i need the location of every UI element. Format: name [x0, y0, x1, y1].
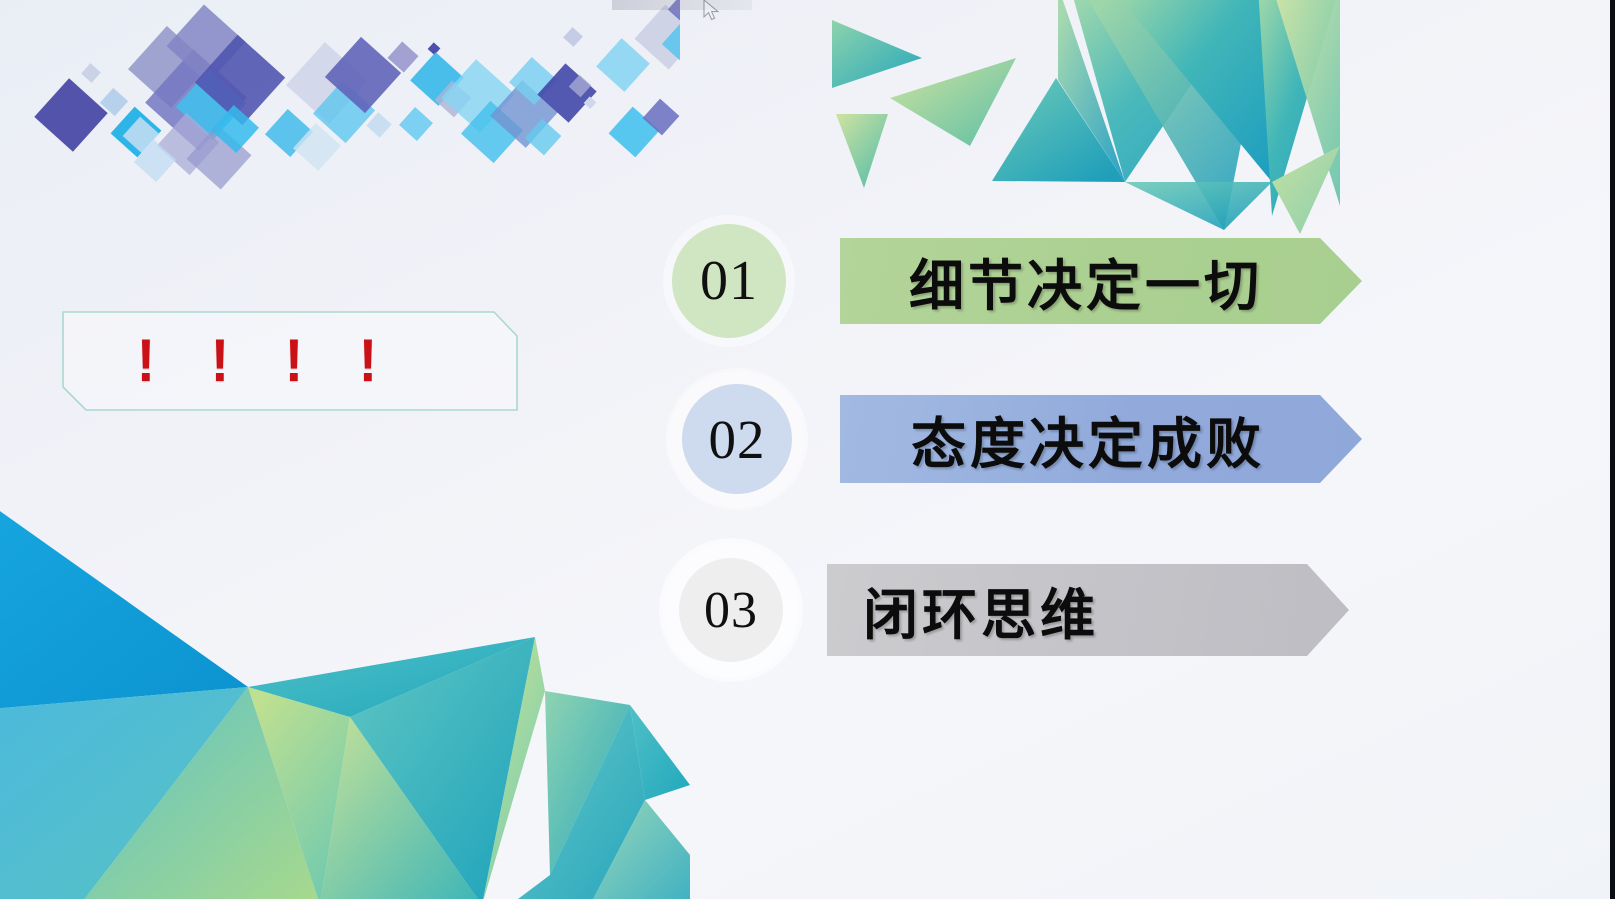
exclamation-mark-1: ! — [137, 331, 155, 391]
agenda-row-3[interactable]: 03 闭环思维 — [645, 558, 1349, 662]
blue-mosaic-squares — [0, 0, 680, 194]
agenda-banner-1[interactable]: 细节决定一切 — [840, 238, 1362, 324]
step-number-text: 02 — [709, 408, 766, 471]
step-number-badge-01: 01 — [672, 224, 786, 338]
step-number-badge-03: 03 — [679, 558, 783, 662]
origami-polygons — [0, 455, 690, 899]
exclamation-callout: ! ! ! ! — [62, 311, 518, 411]
exclamation-mark-group: ! ! ! ! — [62, 311, 518, 411]
agenda-banner-3[interactable]: 闭环思维 — [827, 564, 1349, 656]
step-number-text: 01 — [700, 249, 758, 313]
agenda-row-2[interactable]: 02 态度决定成败 — [650, 384, 1362, 494]
step-number-text: 03 — [704, 581, 758, 640]
exclamation-mark-4: ! — [359, 331, 377, 391]
teal-green-triangles — [780, 0, 1615, 246]
right-edge-strip — [1610, 0, 1615, 899]
step-number-badge-02: 02 — [682, 384, 792, 494]
agenda-banner-2[interactable]: 态度决定成败 — [840, 395, 1362, 483]
agenda-banner-label-2: 态度决定成败 — [911, 399, 1265, 479]
agenda-banner-label-3: 闭环思维 — [863, 570, 1099, 650]
agenda-banner-label-1: 细节决定一切 — [909, 241, 1263, 321]
exclamation-mark-2: ! — [211, 331, 229, 391]
top-edge-smudge — [612, 0, 752, 10]
mouse-cursor-icon — [700, 0, 726, 24]
presentation-slide: ! ! ! ! 01 细节决定一切 02 态度决定成败 03 闭环思维 — [0, 0, 1615, 899]
agenda-row-1[interactable]: 01 细节决定一切 — [650, 224, 1362, 338]
exclamation-mark-3: ! — [285, 331, 303, 391]
